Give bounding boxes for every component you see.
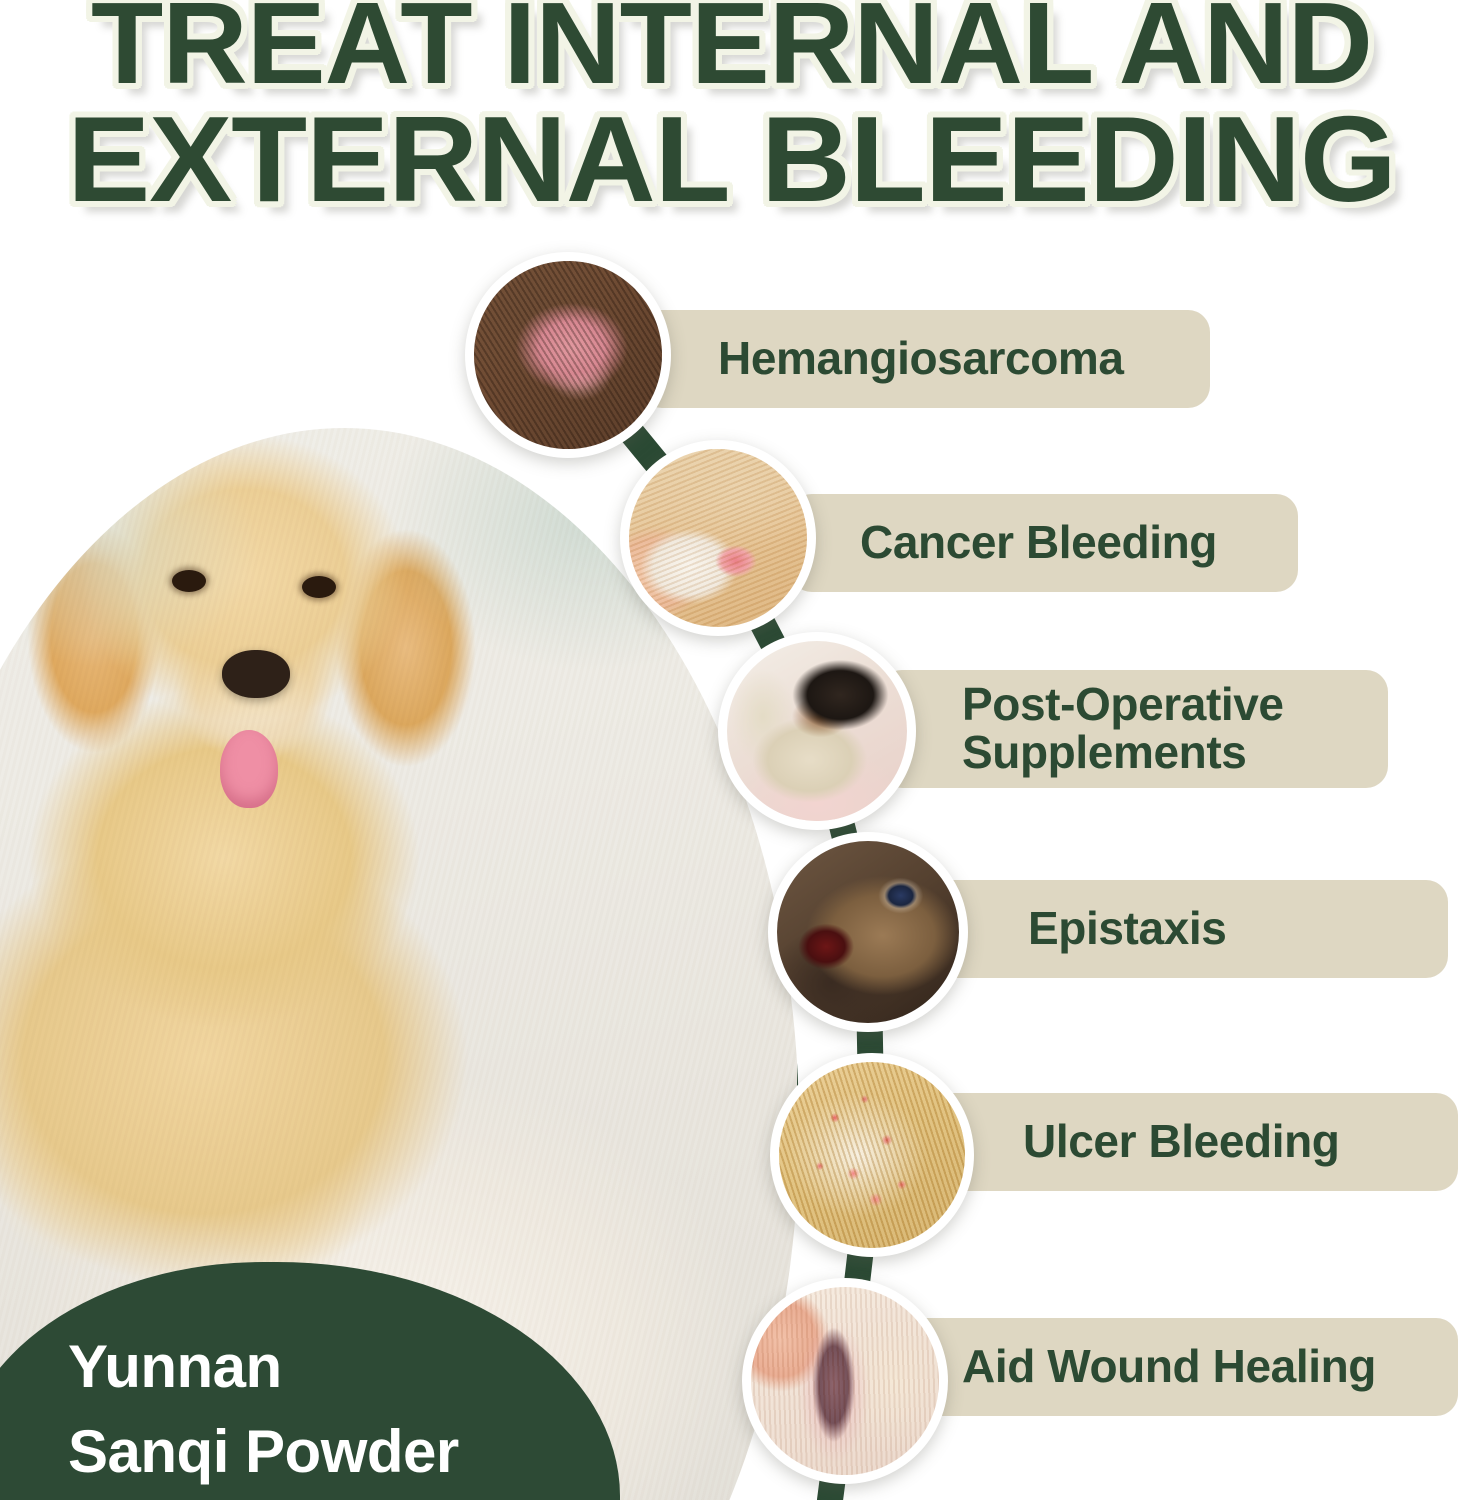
benefit-thumb-aid-wound-healing <box>742 1278 948 1484</box>
benefit-chip-ulcer-bleeding[interactable]: Ulcer Bleeding <box>905 1093 1458 1191</box>
benefit-label: Aid Wound Healing <box>962 1343 1376 1391</box>
benefit-thumb-post-operative <box>718 632 916 830</box>
benefit-label: Ulcer Bleeding <box>1023 1118 1340 1166</box>
headline-line-2: EXTERNAL BLEEDING <box>0 103 1463 215</box>
benefit-label: Cancer Bleeding <box>860 519 1217 567</box>
benefit-thumb-ulcer-bleeding <box>770 1053 974 1257</box>
benefit-chip-post-operative[interactable]: Post-Operative Supplements <box>880 670 1388 788</box>
benefit-label: Hemangiosarcoma <box>718 335 1124 383</box>
page-title: TREAT INTERNAL AND EXTERNAL BLEEDING <box>0 0 1463 215</box>
benefit-thumb-epistaxis <box>768 832 968 1032</box>
benefit-chip-epistaxis[interactable]: Epistaxis <box>930 880 1448 978</box>
dog-eye-left <box>172 570 206 592</box>
benefit-chip-cancer-bleeding[interactable]: Cancer Bleeding <box>790 494 1298 592</box>
benefit-label: Post-Operative Supplements <box>962 681 1284 777</box>
benefit-chip-hemangiosarcoma[interactable]: Hemangiosarcoma <box>640 310 1210 408</box>
headline-line-1: TREAT INTERNAL AND <box>0 0 1463 97</box>
brand-name: Yunnan Sanqi Powder <box>68 1324 459 1494</box>
benefit-label: Epistaxis <box>1028 905 1226 953</box>
dog-tongue <box>220 730 278 808</box>
dog-nose <box>222 650 290 698</box>
product-infographic: TREAT INTERNAL AND EXTERNAL BLEEDING Hem… <box>0 0 1463 1500</box>
benefit-chip-aid-wound-healing[interactable]: Aid Wound Healing <box>880 1318 1458 1416</box>
benefit-thumb-cancer-bleeding <box>620 440 816 636</box>
benefit-thumb-hemangiosarcoma <box>465 252 671 458</box>
dog-eye-right <box>302 576 336 598</box>
